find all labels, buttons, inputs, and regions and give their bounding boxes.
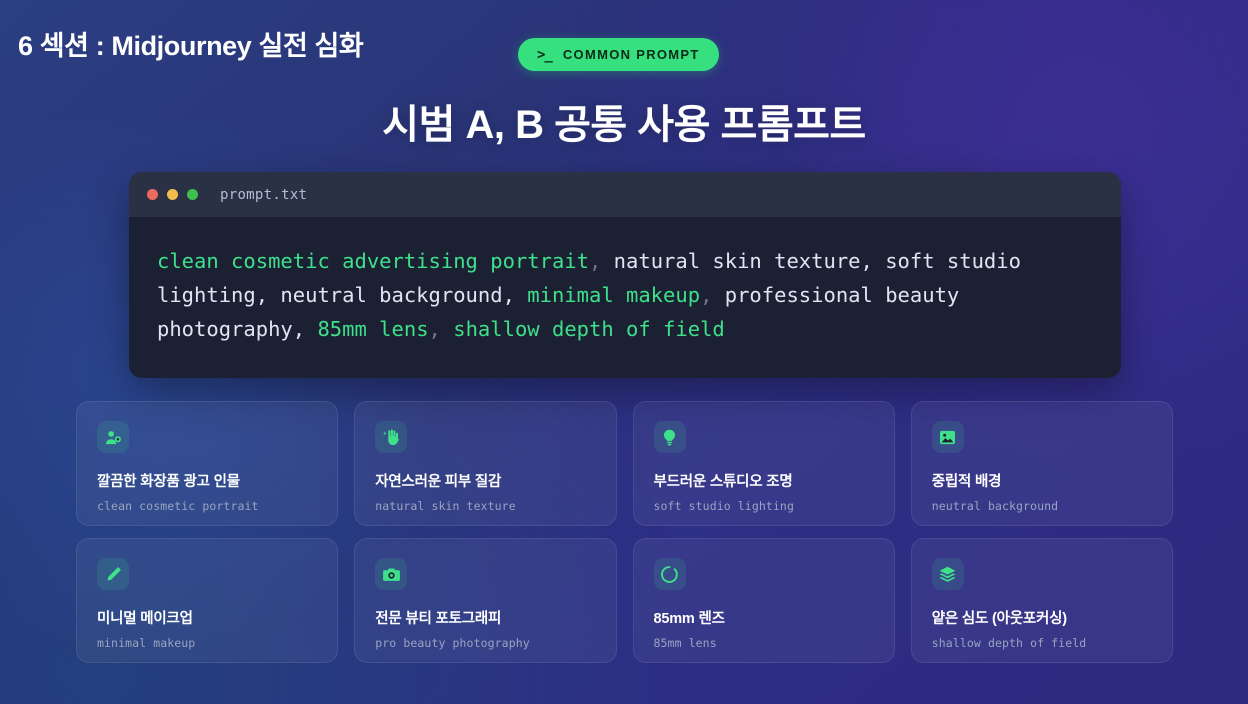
card-neutral-background[interactable]: 중립적 배경 neutral background (911, 401, 1173, 526)
card-title: 부드러운 스튜디오 조명 (654, 470, 874, 491)
badge-label: COMMON PROMPT (563, 48, 700, 61)
code-comma: , (700, 283, 725, 307)
card-subtitle: soft studio lighting (654, 499, 874, 513)
card-subtitle: clean cosmetic portrait (97, 499, 317, 513)
layers-icon (932, 558, 964, 590)
code-window: prompt.txt clean cosmetic advertising po… (129, 172, 1121, 378)
card-title: 깔끔한 화장품 광고 인물 (97, 470, 317, 491)
hand-sparkle-icon (375, 421, 407, 453)
image-icon (932, 421, 964, 453)
section-title: 6 섹션 : Midjourney 실전 심화 (18, 24, 363, 63)
code-comma: , (589, 249, 614, 273)
card-minimal-makeup[interactable]: 미니멀 메이크업 minimal makeup (76, 538, 338, 663)
card-shallow-depth-of-field[interactable]: 얕은 심도 (아웃포커싱) shallow depth of field (911, 538, 1173, 663)
card-natural-skin-texture[interactable]: 자연스러운 피부 질감 natural skin texture (354, 401, 616, 526)
header-bar: 6 섹션 : Midjourney 실전 심화 >_ COMMON PROMPT (0, 0, 1248, 86)
close-window-dot[interactable] (147, 189, 158, 200)
code-comma: , (429, 317, 454, 341)
code-keyword: clean cosmetic advertising portrait (157, 249, 589, 273)
lightbulb-icon (654, 421, 686, 453)
maximize-window-dot[interactable] (187, 189, 198, 200)
code-keyword: shallow depth of field (453, 317, 725, 341)
code-plain: professional beauty (725, 283, 960, 307)
card-title: 얕은 심도 (아웃포커싱) (932, 607, 1152, 628)
user-portrait-icon (97, 421, 129, 453)
card-subtitle: minimal makeup (97, 636, 317, 650)
terminal-prompt-icon: >_ (537, 48, 552, 62)
card-subtitle: neutral background (932, 499, 1152, 513)
code-window-titlebar: prompt.txt (129, 172, 1121, 217)
code-keyword: 85mm lens (317, 317, 428, 341)
card-subtitle: 85mm lens (654, 636, 874, 650)
card-subtitle: shallow depth of field (932, 636, 1152, 650)
card-85mm-lens[interactable]: 85mm 렌즈 85mm lens (633, 538, 895, 663)
camera-icon (375, 558, 407, 590)
code-filename: prompt.txt (220, 187, 307, 203)
prompt-keyword-card-grid: 깔끔한 화장품 광고 인물 clean cosmetic portrait 자연… (76, 401, 1173, 663)
card-title: 전문 뷰티 포토그래피 (375, 607, 595, 628)
code-plain: photography, (157, 317, 305, 341)
prompt-code-text[interactable]: clean cosmetic advertising portrait, nat… (129, 217, 1121, 378)
page-title: 시범 A, B 공통 사용 프롬프트 (0, 92, 1248, 150)
card-soft-studio-lighting[interactable]: 부드러운 스튜디오 조명 soft studio lighting (633, 401, 895, 526)
code-keyword: minimal makeup (527, 283, 700, 307)
card-subtitle: natural skin texture (375, 499, 595, 513)
card-title: 중립적 배경 (932, 470, 1152, 491)
card-clean-cosmetic-portrait[interactable]: 깔끔한 화장품 광고 인물 clean cosmetic portrait (76, 401, 338, 526)
code-plain: natural skin texture, soft studio (614, 249, 1021, 273)
card-title: 미니멀 메이크업 (97, 607, 317, 628)
card-pro-beauty-photography[interactable]: 전문 뷰티 포토그래피 pro beauty photography (354, 538, 616, 663)
card-subtitle: pro beauty photography (375, 636, 595, 650)
card-title: 자연스러운 피부 질감 (375, 470, 595, 491)
card-title: 85mm 렌즈 (654, 607, 874, 628)
minimize-window-dot[interactable] (167, 189, 178, 200)
common-prompt-badge[interactable]: >_ COMMON PROMPT (518, 38, 719, 71)
pencil-icon (97, 558, 129, 590)
code-plain: lighting, neutral background, (157, 283, 515, 307)
lens-circle-icon (654, 558, 686, 590)
